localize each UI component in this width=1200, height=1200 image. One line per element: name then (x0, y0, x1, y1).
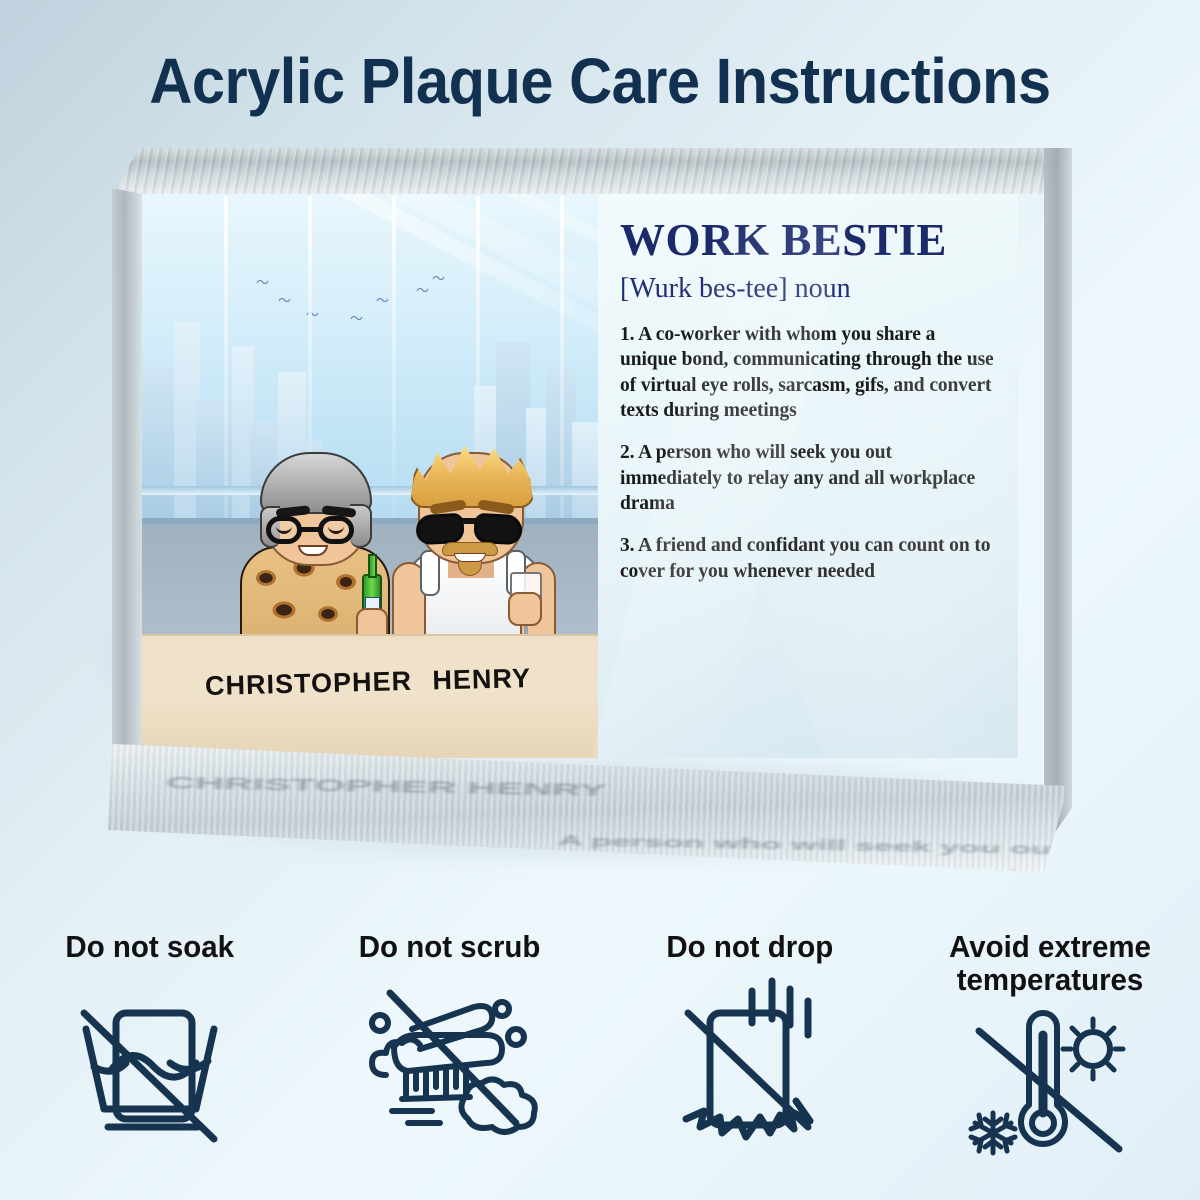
beer-bottle-neck (368, 554, 377, 578)
bird-icon: 〜 (416, 284, 429, 297)
care-item-do-not-soak: Do not soak (0, 930, 300, 1200)
care-label: Avoid extreme temperatures (908, 930, 1193, 997)
care-label: Do not drop (667, 930, 834, 963)
plaque-right-bevel (1012, 148, 1072, 848)
hand (508, 592, 542, 626)
sunglasses-icon (415, 513, 465, 545)
plaque-top-bevel-grain (112, 148, 1072, 194)
definition-entry-1: 1. A co-worker with whom you share a uni… (620, 322, 996, 423)
skyline-building (142, 368, 176, 518)
care-instructions-graphic: Acrylic Plaque Care Instructions (0, 0, 1200, 1200)
definition-entry-3: 3. A friend and confidant you can count … (620, 533, 996, 584)
plaque-printed-face: 〜 〜 〜 〜 〜 〜 〜 (138, 188, 1018, 758)
bird-icon: 〜 (256, 276, 269, 289)
sunglasses-icon (473, 513, 523, 545)
care-item-avoid-extreme-temperatures: Avoid extreme temperatures (900, 930, 1200, 1200)
bird-icon: 〜 (350, 312, 363, 325)
definition-entry-2: 2. A person who will seek you out immedi… (620, 440, 996, 516)
skyline-building (572, 422, 598, 518)
bird-icon: 〜 (432, 272, 445, 285)
care-label: Do not scrub (359, 930, 541, 963)
definition-phonetic: [Wurk bes-tee] noun (620, 273, 996, 305)
no-soak-icon (60, 977, 240, 1147)
no-extreme-temperature-icon (955, 1001, 1145, 1161)
plaque-left-bevel (112, 188, 142, 808)
care-label: Do not soak (66, 930, 235, 963)
care-instruction-row: Do not soak Do not scrub (0, 930, 1200, 1200)
plaque-artwork: 〜 〜 〜 〜 〜 〜 〜 (138, 188, 598, 758)
reflection-line: CHRISTOPHER HENRY (165, 773, 607, 800)
care-item-do-not-drop: Do not drop (600, 930, 900, 1200)
sunglasses-bridge (462, 518, 478, 524)
tank-strap (420, 550, 440, 596)
no-scrub-icon (350, 977, 550, 1147)
mouth (454, 553, 486, 562)
bird-icon: 〜 (376, 294, 389, 307)
page-title: Acrylic Plaque Care Instructions (42, 44, 1158, 118)
bird-icon: 〜 (278, 294, 291, 307)
definition-panel: WORK BESTIE [Wurk bes-tee] noun 1. A co-… (598, 188, 1018, 758)
care-item-do-not-scrub: Do not scrub (300, 930, 600, 1200)
definition-headword: WORK BESTIE (620, 218, 996, 263)
no-drop-icon (660, 977, 840, 1152)
eyeglasses-bridge (301, 527, 320, 532)
acrylic-plaque: 〜 〜 〜 〜 〜 〜 〜 (112, 148, 1072, 888)
